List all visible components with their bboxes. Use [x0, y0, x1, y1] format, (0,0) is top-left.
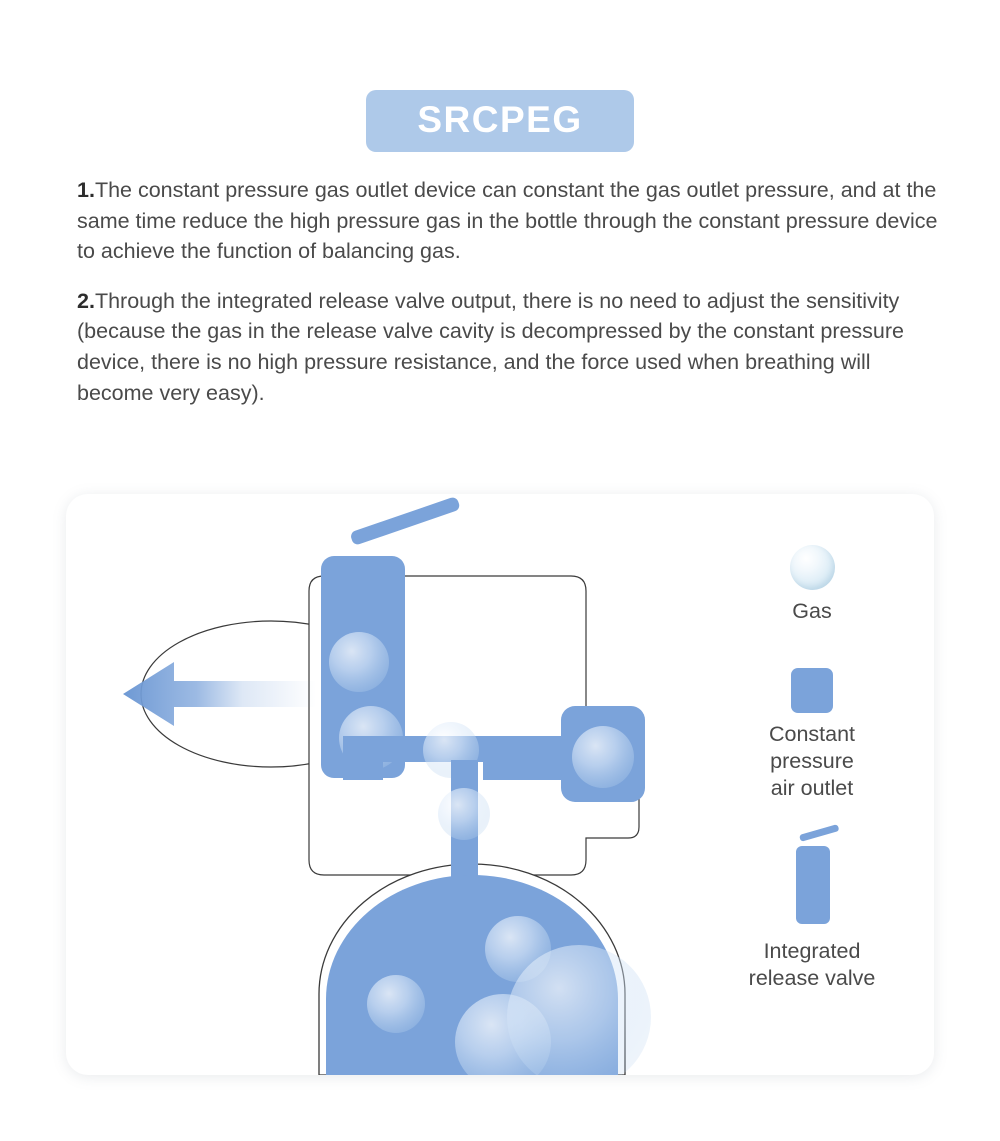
diagram-card: Gas Constant pressure air outlet Integra…: [66, 494, 934, 1075]
legend-swatch-gas-row: [706, 528, 918, 590]
gas-bubble: [329, 632, 389, 692]
title-banner: SRCPEG: [366, 90, 634, 152]
legend-swatch-constant-pressure-row: [706, 651, 918, 713]
legend-item-gas: Gas: [706, 528, 918, 625]
paragraph-1: 1.The constant pressure gas outlet devic…: [77, 175, 939, 267]
page-title: SRCPEG: [410, 101, 590, 138]
legend-label-constant-pressure-line-2: pressure: [706, 748, 918, 775]
constant-pressure-square-icon: [791, 668, 833, 713]
legend-item-release-valve: Integrated release valve: [706, 826, 918, 992]
description-block: 1.The constant pressure gas outlet devic…: [77, 175, 939, 427]
diagram-legend: Gas Constant pressure air outlet Integra…: [706, 522, 918, 998]
title-banner-container: SRCPEG: [0, 90, 1000, 152]
legend-label-release-valve-line-2: release valve: [706, 965, 918, 992]
paragraph-2-text: Through the integrated release valve out…: [77, 289, 904, 405]
paragraph-1-number: 1.: [77, 178, 95, 202]
legend-item-constant-pressure: Constant pressure air outlet: [706, 651, 918, 802]
release-valve-body-icon: [796, 846, 830, 924]
gas-bubble-icon: [790, 545, 835, 590]
gas-bubble: [367, 975, 425, 1033]
legend-label-constant-pressure-line-3: air outlet: [706, 775, 918, 802]
gas-bubble: [438, 788, 490, 840]
legend-swatch-release-valve-row: [706, 826, 918, 930]
gas-bubble: [572, 726, 634, 788]
legend-label-constant-pressure-line-1: Constant: [706, 721, 918, 748]
integrated-release-valve-icon: [784, 826, 840, 926]
paragraph-1-text: The constant pressure gas outlet device …: [77, 178, 938, 263]
paragraph-2-number: 2.: [77, 289, 95, 313]
legend-label-gas: Gas: [706, 598, 918, 625]
release-valve-lever-bar: [349, 496, 460, 546]
paragraph-2: 2.Through the integrated release valve o…: [77, 286, 939, 408]
release-valve-lever-icon: [799, 824, 839, 842]
legend-label-release-valve-line-1: Integrated: [706, 938, 918, 965]
constant-pressure-chamber: [561, 706, 645, 802]
